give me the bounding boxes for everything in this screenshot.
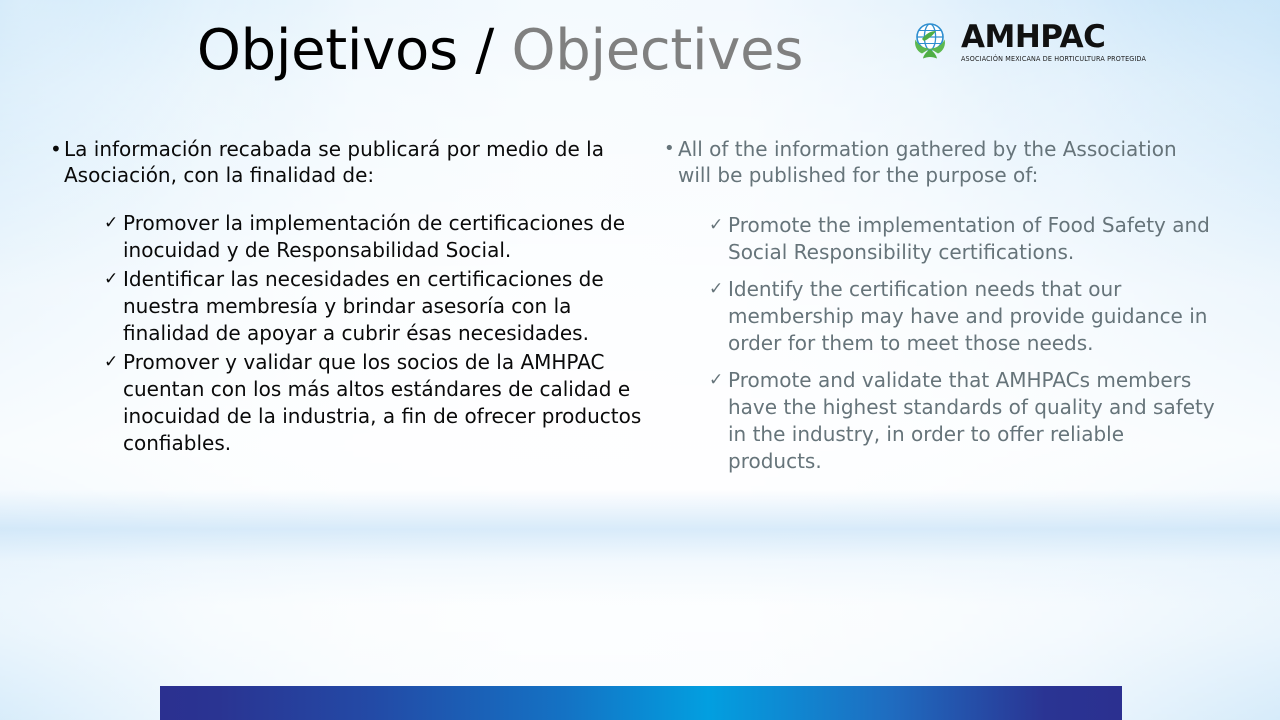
- check-icon: ✓: [103, 266, 123, 293]
- list-item-label: Promote and validate that AMHPACs member…: [728, 367, 1218, 475]
- globe-with-leaves-icon: [905, 16, 955, 66]
- title-english: Objectives: [511, 18, 803, 83]
- checklist-english: ✓ Promote the implementation of Food Saf…: [708, 212, 1226, 475]
- lead-bullet-spanish: • La información recabada se publicará p…: [42, 136, 642, 188]
- logo-tagline: ASOCIACIÓN MEXICANA DE HORTICULTURA PROT…: [961, 55, 1146, 62]
- list-item: ✓ Promover y validar que los socios de l…: [103, 349, 642, 457]
- list-item: ✓ Promote the implementation of Food Saf…: [708, 212, 1226, 266]
- list-item: ✓ Identificar las necesidades en certifi…: [103, 266, 642, 347]
- list-item-label: Promover y validar que los socios de la …: [123, 349, 642, 457]
- slide-title-block: Objetivos / Objectives: [110, 8, 890, 94]
- list-item: ✓ Identify the certification needs that …: [708, 276, 1226, 357]
- lead-text-spanish: La información recabada se publicará por…: [64, 136, 624, 188]
- list-item: ✓ Promover la implementación de certific…: [103, 210, 642, 264]
- content-column-english: • All of the information gathered by the…: [656, 136, 1226, 485]
- lead-bullet-english: • All of the information gathered by the…: [656, 136, 1226, 188]
- check-icon: ✓: [708, 276, 728, 303]
- logo-name: AMHPAC: [961, 22, 1148, 53]
- logo-wordmark: AMHPAC ASOCIACIÓN MEXICANA DE HORTICULTU…: [961, 19, 1148, 62]
- list-item: ✓ Promote and validate that AMHPACs memb…: [708, 367, 1226, 475]
- lead-text-english: All of the information gathered by the A…: [678, 136, 1208, 188]
- list-item-label: Promote the implementation of Food Safet…: [728, 212, 1218, 266]
- check-icon: ✓: [708, 367, 728, 394]
- bullet-icon: •: [656, 136, 678, 162]
- footer-accent-bar: [160, 686, 1122, 720]
- list-item-label: Identificar las necesidades en certifica…: [123, 266, 642, 347]
- title-separator: /: [475, 18, 494, 83]
- bullet-icon: •: [42, 136, 64, 162]
- list-item-label: Promover la implementación de certificac…: [123, 210, 642, 264]
- check-icon: ✓: [708, 212, 728, 239]
- title-spanish: Objetivos: [197, 18, 458, 83]
- content-column-spanish: • La información recabada se publicará p…: [42, 136, 642, 459]
- page-title: Objetivos / Objectives: [197, 22, 803, 81]
- amhpac-logo: AMHPAC ASOCIACIÓN MEXICANA DE HORTICULTU…: [905, 12, 1113, 70]
- slide-canvas: Objetivos / Objectives AMHPAC ASOCIACIÓN…: [0, 0, 1280, 720]
- check-icon: ✓: [103, 210, 123, 237]
- check-icon: ✓: [103, 349, 123, 376]
- list-item-label: Identify the certification needs that ou…: [728, 276, 1218, 357]
- checklist-spanish: ✓ Promover la implementación de certific…: [103, 210, 642, 457]
